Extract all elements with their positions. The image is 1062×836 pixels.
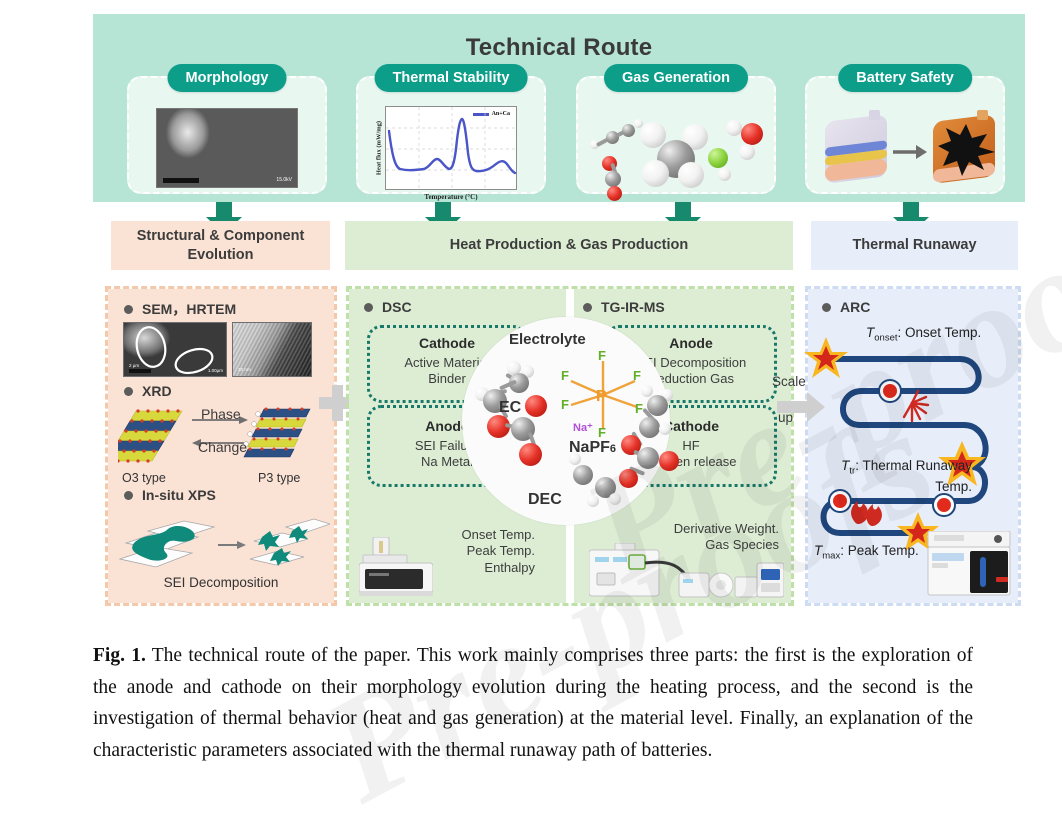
sem-meta: 15.0kV bbox=[276, 177, 292, 183]
pill-thermal-stability[interactable]: Thermal Stability bbox=[375, 64, 528, 92]
bullet-tg-ir-ms: TG-IR-MS bbox=[583, 299, 665, 315]
sei-decomposition-icon bbox=[114, 509, 330, 579]
xrd-o3-label: O3 type bbox=[122, 471, 166, 485]
dsc-curve-icon: Heat flux (mW/mg) Temperature (°C) An+Ca bbox=[385, 106, 517, 190]
bullet-sem-hrtem: SEM，HRTEM bbox=[124, 299, 236, 319]
bullet-dot-icon bbox=[124, 491, 133, 500]
hrtem-scalebar-label: 20 nm bbox=[238, 367, 251, 372]
dsc-plot-svg bbox=[386, 107, 518, 191]
banner-thermal-runaway: Thermal Runaway bbox=[811, 221, 1018, 270]
caption-label: Fig. 1. bbox=[93, 645, 146, 666]
pill-morphology[interactable]: Morphology bbox=[168, 64, 287, 92]
dsc-outputs: Onset Temp. Peak Temp. Enthalpy bbox=[419, 527, 535, 576]
bullet-label: TG-IR-MS bbox=[601, 299, 665, 315]
pill-gas-generation[interactable]: Gas Generation bbox=[604, 64, 748, 92]
bullet-dot-icon bbox=[124, 387, 133, 396]
annot-text: : Onset Temp. bbox=[898, 325, 982, 340]
tg-output-line: Derivative Weight. bbox=[635, 521, 779, 537]
svg-text:F: F bbox=[633, 368, 641, 383]
sym-T: T bbox=[814, 543, 822, 558]
bullet-dot-icon bbox=[364, 303, 373, 312]
banner-structural-component-evolution: Structural & Component Evolution bbox=[111, 221, 330, 270]
pill-battery-safety[interactable]: Battery Safety bbox=[838, 64, 972, 92]
sem-scalebar-label: 2 µm bbox=[129, 363, 139, 368]
bullet-label: ARC bbox=[840, 299, 870, 315]
hrtem-image: 20 nm bbox=[232, 322, 312, 377]
band-title: Technical Route bbox=[93, 34, 1025, 62]
scale-up-line2: up bbox=[778, 410, 793, 425]
annot-text: : Peak Temp. bbox=[840, 543, 919, 558]
dsc-output-line: Enthalpy bbox=[419, 560, 535, 576]
battery-explosion-icon bbox=[807, 104, 1003, 186]
figure-technical-route: Technical Route Morphology 15.0kV Therma… bbox=[93, 14, 1025, 606]
dec-label: DEC bbox=[528, 491, 562, 509]
svg-text:F: F bbox=[598, 348, 606, 363]
bullet-in-situ-xps: In-situ XPS bbox=[124, 487, 216, 503]
panel-morphology: SEM，HRTEM 2 µm 1.00µm 20 nm XRD bbox=[105, 286, 337, 606]
bullet-dot-icon bbox=[583, 303, 592, 312]
bullet-label: SEM，HRTEM bbox=[142, 299, 236, 319]
arc-annotation-tr: Ttr: Thermal Runaway Temp. bbox=[814, 457, 972, 496]
svg-text:F: F bbox=[561, 368, 569, 383]
scalebar bbox=[163, 178, 199, 183]
ec-label: EC bbox=[499, 399, 521, 417]
arc-instrument-icon bbox=[926, 531, 1012, 597]
sym-T: T bbox=[866, 325, 874, 340]
top-card-battery-safety[interactable]: Battery Safety bbox=[805, 76, 1005, 194]
banner-heat-gas-production: Heat Production & Gas Production bbox=[345, 221, 793, 270]
panel-arc: ARC bbox=[805, 286, 1021, 606]
arc-annotation-onset: Tonset: Onset Temp. bbox=[866, 325, 981, 344]
burst-hole-icon bbox=[938, 122, 998, 178]
xps-caption: SEI Decomposition bbox=[108, 575, 334, 590]
dsc-output-line: Onset Temp. bbox=[419, 527, 535, 543]
transition-arrow-icon bbox=[893, 144, 927, 160]
bullet-dot-icon bbox=[124, 305, 133, 314]
bullet-dsc: DSC bbox=[364, 299, 412, 315]
gas-molecules-icon bbox=[578, 104, 774, 186]
dsc-xlabel: Temperature (°C) bbox=[386, 193, 516, 201]
scale-up-line1: Scale bbox=[772, 374, 806, 389]
bullet-xrd: XRD bbox=[124, 383, 172, 399]
sub-max: max bbox=[822, 551, 840, 562]
top-card-thermal-stability[interactable]: Thermal Stability Heat flux (mW/mg) Temp… bbox=[356, 76, 546, 194]
sem-micrograph-icon: 15.0kV bbox=[156, 108, 298, 188]
tg-ir-ms-instrument-icon bbox=[589, 543, 784, 605]
dsc-instrument-icon bbox=[359, 537, 433, 597]
arc-annotation-max: Tmax: Peak Temp. bbox=[814, 543, 919, 562]
dsc-output-line: Peak Temp. bbox=[419, 543, 535, 559]
bullet-label: DSC bbox=[382, 299, 412, 315]
annot-text: : Thermal Runaway Temp. bbox=[855, 458, 972, 494]
svg-text:F: F bbox=[561, 397, 569, 412]
bullet-label: XRD bbox=[142, 383, 172, 399]
xrd-arrow-top-label: Phase bbox=[201, 406, 241, 422]
xrd-arrow-bottom-label: Change bbox=[198, 439, 247, 455]
panel-heat-gas: DSC TG-IR-MS Cathode Active Material Bin… bbox=[346, 286, 794, 606]
bullet-arc: ARC bbox=[822, 299, 870, 315]
bullet-label: In-situ XPS bbox=[142, 487, 216, 503]
top-card-morphology[interactable]: Morphology 15.0kV bbox=[127, 76, 327, 194]
xrd-p3-label: P3 type bbox=[258, 471, 300, 485]
dec-molecule-icon bbox=[583, 385, 683, 505]
sub-onset: onset bbox=[874, 333, 897, 344]
caption-text: The technical route of the paper. This w… bbox=[93, 645, 973, 761]
bullet-dot-icon bbox=[822, 303, 831, 312]
electrolyte-title: Electrolyte bbox=[509, 331, 586, 348]
figure-caption: Fig. 1. The technical route of the paper… bbox=[93, 640, 973, 766]
dsc-ylabel: Heat flux (mW/mg) bbox=[376, 121, 383, 175]
top-card-gas-generation[interactable]: Gas Generation bbox=[576, 76, 776, 194]
sem-image: 2 µm 1.00µm bbox=[123, 322, 227, 377]
